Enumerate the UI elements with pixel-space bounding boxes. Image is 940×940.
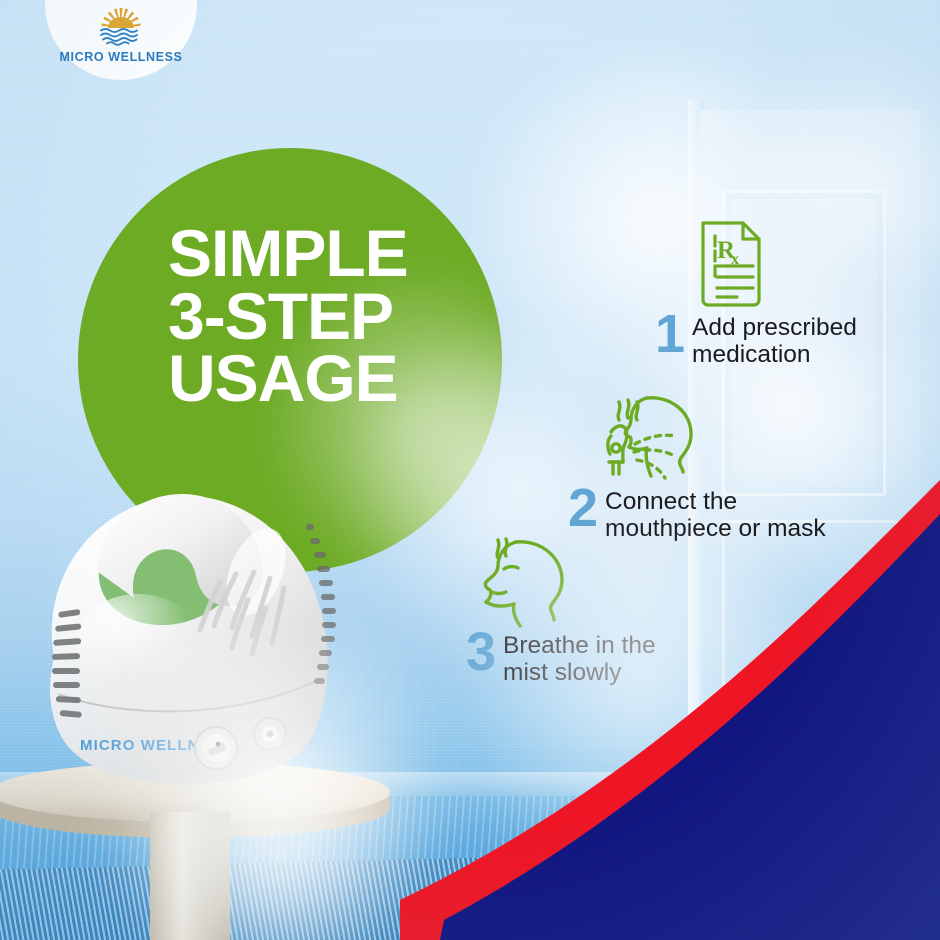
svg-text:x: x <box>731 251 739 268</box>
head-with-nebulizer-mask-icon <box>601 392 705 484</box>
step-1-row: 1 Add prescribed medication <box>655 310 857 369</box>
brand-name-label: MICRO WELLNESS <box>60 50 183 64</box>
headline-line-2: 3-STEP <box>168 285 498 348</box>
page-title: SIMPLE 3-STEP USAGE <box>168 222 498 410</box>
headline-line-1: SIMPLE <box>168 222 498 285</box>
headline-line-3: USAGE <box>168 347 498 410</box>
step-1-number: 1 <box>655 310 684 360</box>
sun-over-waves-icon <box>94 7 148 47</box>
corner-swoosh-decoration <box>400 480 940 940</box>
nebulizer-compressor-icon: MICRO WELLNESS <box>18 462 378 802</box>
step-1-text: Add prescribed medication <box>692 310 857 369</box>
prescription-document-icon: R x <box>693 218 765 310</box>
poster-canvas: SIMPLE 3-STEP USAGE R x 1 Add prescribed… <box>0 0 940 940</box>
step-item-1: R x 1 Add prescribed medication <box>655 218 857 369</box>
